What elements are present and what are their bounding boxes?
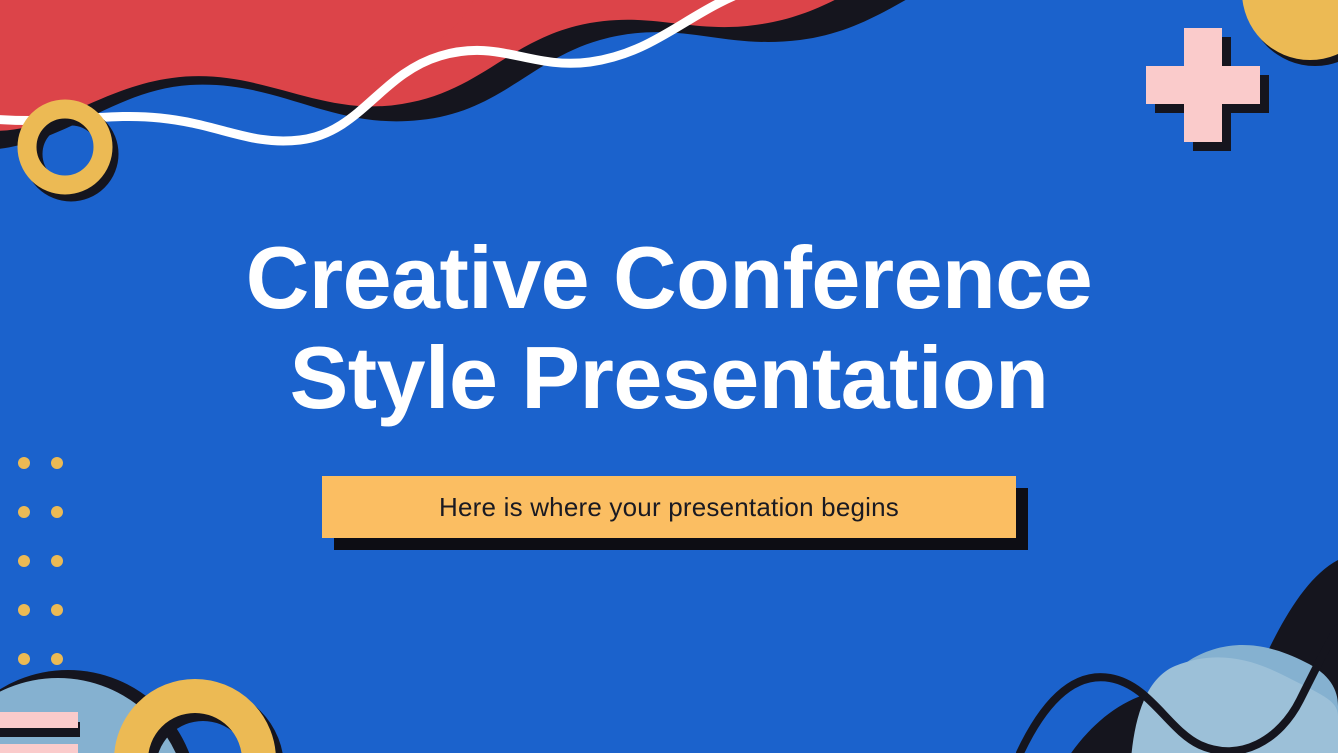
title-line-2: Style Presentation bbox=[139, 328, 1199, 428]
presentation-slide: Creative Conference Style Presentation H… bbox=[0, 0, 1338, 753]
page-title: Creative Conference Style Presentation bbox=[139, 228, 1199, 428]
subtitle-text: Here is where your presentation begins bbox=[439, 492, 899, 523]
subtitle-banner-wrap: Here is where your presentation begins bbox=[322, 476, 1016, 538]
title-line-1: Creative Conference bbox=[139, 228, 1199, 328]
subtitle-banner: Here is where your presentation begins bbox=[322, 476, 1016, 538]
slide-content: Creative Conference Style Presentation H… bbox=[0, 0, 1338, 753]
